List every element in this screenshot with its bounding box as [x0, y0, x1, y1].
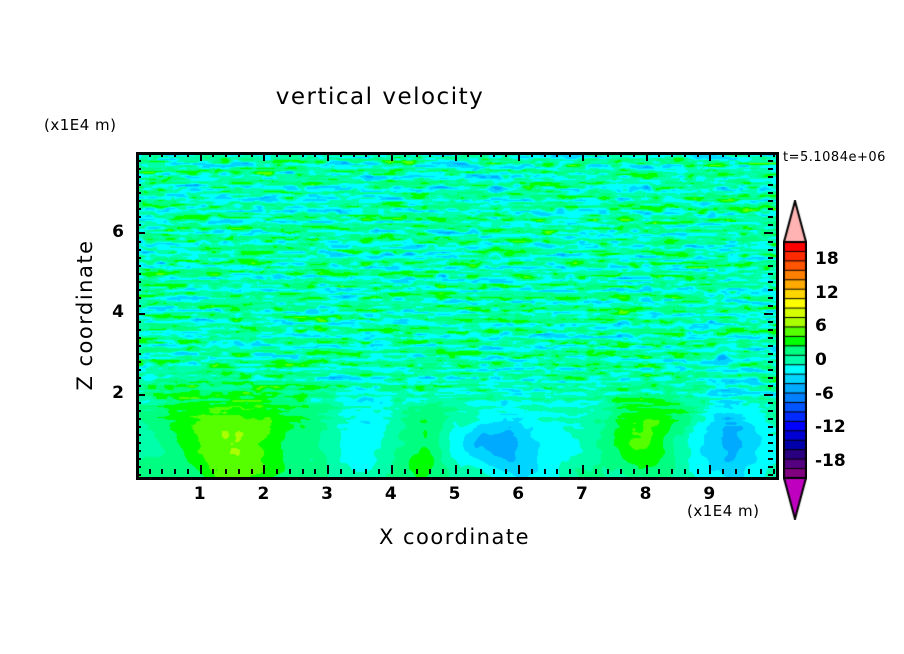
axis-tick [633, 469, 635, 474]
axis-tick [200, 152, 202, 161]
axis-tick [429, 469, 431, 474]
axis-tick [136, 313, 145, 315]
axis-tick [340, 469, 342, 474]
x-tick-label-8: 9 [694, 484, 724, 504]
x-axis-title: X coordinate [136, 525, 773, 549]
axis-tick [764, 394, 773, 396]
axis-tick [467, 152, 469, 157]
axis-tick [136, 329, 141, 331]
axis-tick [187, 152, 189, 157]
axis-tick [764, 232, 773, 234]
axis-tick [633, 152, 635, 157]
axis-tick [251, 469, 253, 474]
y-tick-label-0: 2 [94, 383, 124, 403]
axis-tick [768, 160, 773, 162]
axis-tick [684, 152, 686, 157]
axis-tick [595, 469, 597, 474]
axis-tick [768, 442, 773, 444]
axis-tick [455, 152, 457, 161]
axis-tick [768, 434, 773, 436]
axis-tick [768, 329, 773, 331]
axis-tick [136, 466, 141, 468]
axis-tick [225, 152, 227, 157]
axis-tick [136, 458, 141, 460]
axis-tick [768, 410, 773, 412]
x-tick-label-3: 4 [376, 484, 406, 504]
axis-tick [768, 241, 773, 243]
axis-tick [136, 160, 141, 162]
axis-tick [378, 152, 380, 157]
axis-tick [768, 321, 773, 323]
axis-tick [518, 152, 520, 161]
axis-tick [684, 469, 686, 474]
axis-tick [136, 369, 141, 371]
axis-tick [314, 469, 316, 474]
colorbar [783, 200, 807, 520]
axis-tick [314, 152, 316, 157]
axis-tick [768, 361, 773, 363]
axis-tick [569, 152, 571, 157]
axis-tick [773, 469, 775, 474]
axis-tick [391, 465, 393, 474]
axis-tick [174, 152, 176, 157]
axis-tick [149, 469, 151, 474]
axis-tick [768, 184, 773, 186]
x-tick-label-7: 8 [631, 484, 661, 504]
colorbar-tick-label-5: -12 [815, 417, 846, 437]
axis-tick [768, 224, 773, 226]
axis-tick [748, 469, 750, 474]
axis-tick [302, 469, 304, 474]
axis-tick [136, 273, 141, 275]
colorbar-tick-label-4: -6 [815, 384, 834, 404]
axis-tick [768, 345, 773, 347]
axis-tick [263, 465, 265, 474]
axis-tick [531, 152, 533, 157]
axis-tick [671, 152, 673, 157]
axis-tick [607, 152, 609, 157]
contour-plot-area [136, 152, 779, 480]
axis-tick [238, 469, 240, 474]
axis-tick [404, 469, 406, 474]
axis-tick [442, 152, 444, 157]
y-tick-label-2: 6 [94, 222, 124, 242]
axis-tick [136, 249, 141, 251]
axis-tick [658, 152, 660, 157]
colorbar-tick-label-6: -18 [815, 451, 846, 471]
axis-tick [768, 426, 773, 428]
axis-tick [365, 152, 367, 157]
axis-tick [671, 469, 673, 474]
axis-tick [136, 385, 141, 387]
axis-tick [225, 469, 227, 474]
axis-tick [646, 152, 648, 161]
axis-tick [136, 474, 141, 476]
axis-tick [353, 469, 355, 474]
axis-tick [607, 469, 609, 474]
axis-tick [136, 345, 141, 347]
axis-tick [768, 337, 773, 339]
axis-tick [302, 152, 304, 157]
axis-tick [136, 200, 141, 202]
axis-tick [136, 321, 141, 323]
axis-tick [327, 152, 329, 161]
x-tick-label-5: 6 [503, 484, 533, 504]
axis-tick [556, 152, 558, 157]
axis-tick [378, 469, 380, 474]
axis-tick [768, 385, 773, 387]
axis-tick [768, 265, 773, 267]
axis-tick [480, 469, 482, 474]
axis-tick [768, 297, 773, 299]
axis-tick [760, 469, 762, 474]
axis-tick [620, 469, 622, 474]
axis-tick [161, 152, 163, 157]
axis-tick [709, 465, 711, 474]
axis-tick [251, 152, 253, 157]
axis-tick [764, 313, 773, 315]
axis-tick [136, 289, 141, 291]
axis-tick [768, 192, 773, 194]
x-axis-unit-label: (x1E4 m) [687, 502, 760, 520]
axis-tick [768, 377, 773, 379]
axis-tick [748, 152, 750, 157]
colorbar-tick-label-2: 6 [815, 316, 827, 336]
axis-tick [556, 469, 558, 474]
axis-tick [768, 402, 773, 404]
x-tick-label-1: 2 [248, 484, 278, 504]
axis-tick [136, 152, 141, 154]
axis-tick [768, 152, 773, 154]
axis-tick [582, 465, 584, 474]
axis-tick [136, 184, 141, 186]
axis-tick [768, 216, 773, 218]
axis-tick [136, 305, 141, 307]
axis-tick [768, 418, 773, 420]
axis-tick [416, 469, 418, 474]
axis-tick [136, 257, 141, 259]
axis-tick [773, 152, 775, 157]
axis-tick [149, 152, 151, 157]
axis-tick [136, 232, 145, 234]
colorbar-canvas [783, 200, 807, 520]
axis-tick [768, 289, 773, 291]
axis-tick [768, 208, 773, 210]
axis-tick [768, 369, 773, 371]
axis-tick [735, 152, 737, 157]
page-title: vertical velocity [0, 84, 760, 110]
axis-tick [768, 200, 773, 202]
axis-tick [768, 353, 773, 355]
axis-tick [768, 281, 773, 283]
axis-tick [391, 152, 393, 161]
axis-tick [136, 297, 141, 299]
axis-tick [646, 465, 648, 474]
axis-tick [768, 450, 773, 452]
axis-tick [136, 450, 141, 452]
axis-tick [735, 469, 737, 474]
colorbar-tick-label-0: 18 [815, 249, 839, 269]
axis-tick [136, 241, 141, 243]
axis-tick [161, 469, 163, 474]
axis-tick [722, 469, 724, 474]
axis-tick [340, 152, 342, 157]
y-axis-unit-label: (x1E4 m) [44, 116, 117, 134]
x-tick-label-4: 5 [440, 484, 470, 504]
axis-tick [518, 465, 520, 474]
axis-tick [658, 469, 660, 474]
colorbar-tick-label-1: 12 [815, 283, 839, 303]
axis-tick [760, 152, 762, 157]
axis-tick [442, 469, 444, 474]
axis-tick [200, 465, 202, 474]
colorbar-tick-label-3: 0 [815, 350, 827, 370]
axis-tick [289, 152, 291, 157]
axis-tick [768, 474, 773, 476]
axis-tick [238, 152, 240, 157]
axis-tick [136, 192, 141, 194]
axis-tick [136, 176, 141, 178]
axis-tick [136, 353, 141, 355]
axis-tick [697, 152, 699, 157]
axis-tick [136, 361, 141, 363]
axis-tick [365, 469, 367, 474]
axis-tick [768, 466, 773, 468]
axis-tick [768, 305, 773, 307]
axis-tick [212, 469, 214, 474]
axis-tick [544, 152, 546, 157]
velocity-field-canvas [139, 155, 776, 477]
axis-tick [416, 152, 418, 157]
axis-tick [404, 152, 406, 157]
axis-tick [768, 458, 773, 460]
axis-tick [136, 377, 141, 379]
axis-tick [493, 469, 495, 474]
axis-tick [709, 152, 711, 161]
axis-tick [136, 216, 141, 218]
axis-tick [212, 152, 214, 157]
axis-tick [136, 265, 141, 267]
axis-tick [722, 152, 724, 157]
axis-tick [582, 152, 584, 161]
axis-tick [531, 469, 533, 474]
axis-tick [505, 469, 507, 474]
axis-tick [136, 426, 141, 428]
axis-tick [327, 465, 329, 474]
axis-tick [136, 394, 145, 396]
axis-tick [136, 281, 141, 283]
axis-tick [276, 152, 278, 157]
axis-tick [768, 249, 773, 251]
x-tick-label-0: 1 [185, 484, 215, 504]
axis-tick [136, 418, 141, 420]
axis-tick [544, 469, 546, 474]
axis-tick [493, 152, 495, 157]
axis-tick [136, 434, 141, 436]
axis-tick [136, 168, 141, 170]
axis-tick [697, 469, 699, 474]
time-annotation: t=5.1084e+06 [783, 150, 886, 165]
axis-tick [505, 152, 507, 157]
x-tick-label-6: 7 [567, 484, 597, 504]
axis-tick [263, 152, 265, 161]
axis-tick [455, 465, 457, 474]
axis-tick [768, 257, 773, 259]
axis-tick [768, 176, 773, 178]
axis-tick [136, 208, 141, 210]
axis-tick [289, 469, 291, 474]
axis-tick [467, 469, 469, 474]
axis-tick [136, 337, 141, 339]
axis-tick [276, 469, 278, 474]
axis-tick [768, 168, 773, 170]
axis-tick [353, 152, 355, 157]
axis-tick [480, 152, 482, 157]
axis-tick [136, 410, 141, 412]
y-tick-label-1: 4 [94, 302, 124, 322]
axis-tick [429, 152, 431, 157]
axis-tick [569, 469, 571, 474]
axis-tick [595, 152, 597, 157]
axis-tick [136, 442, 141, 444]
axis-tick [620, 152, 622, 157]
axis-tick [187, 469, 189, 474]
axis-tick [136, 402, 141, 404]
axis-tick [136, 224, 141, 226]
axis-tick [768, 273, 773, 275]
x-tick-label-2: 3 [312, 484, 342, 504]
figure-canvas: vertical velocity t=5.1084e+06 (x1E4 m) … [0, 0, 904, 654]
axis-tick [174, 469, 176, 474]
